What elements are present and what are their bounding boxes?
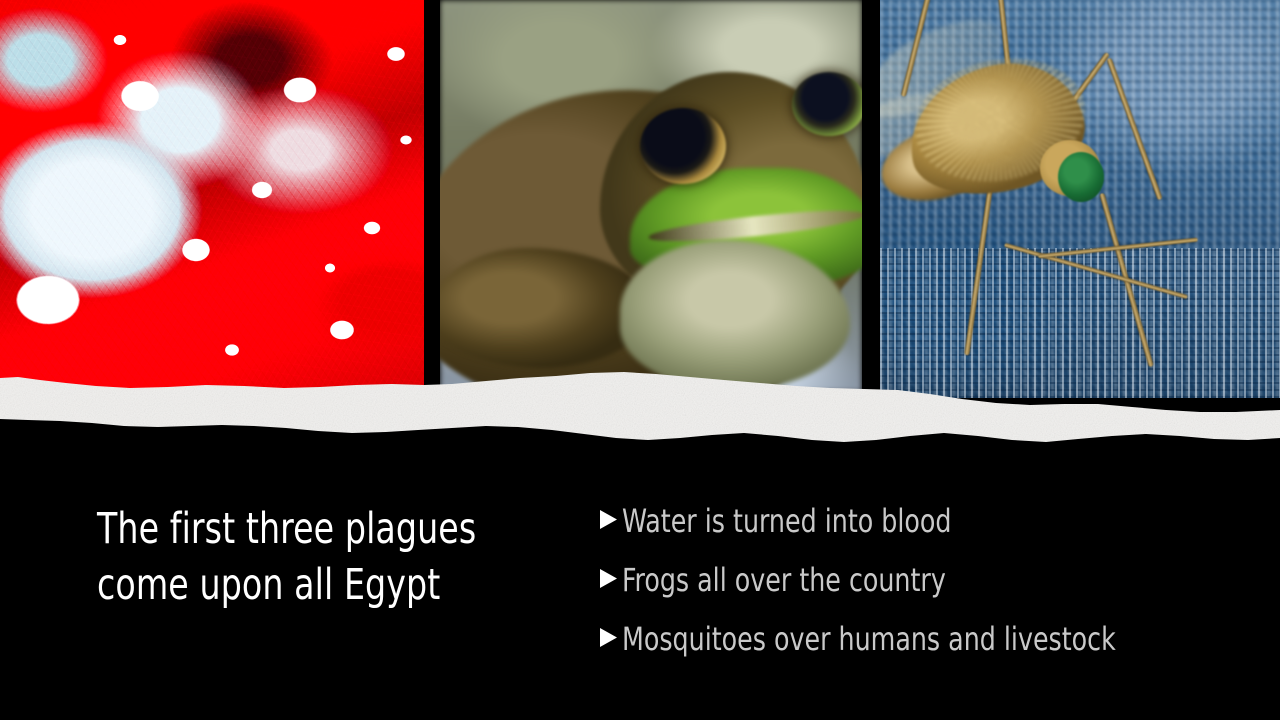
list-item: Mosquitoes over humans and livestock [600, 620, 1260, 679]
page-title: The first three plagues come upon all Eg… [97, 501, 493, 613]
list-item-label: Water is turned into blood [622, 502, 951, 540]
presentation-slide: The first three plagues come upon all Eg… [0, 0, 1280, 720]
blood-water-image [0, 0, 424, 390]
image-band [0, 0, 1280, 410]
list-item: Frogs all over the country [600, 561, 1260, 620]
list-item-label: Frogs all over the country [622, 561, 946, 599]
torn-paper-shape [0, 372, 1280, 442]
torn-paper-divider [0, 360, 1280, 460]
frog-image [440, 0, 862, 392]
triangle-right-icon [600, 569, 617, 588]
mosquito-eye [1058, 152, 1104, 202]
frog-eye-left [640, 108, 726, 184]
plagues-list: Water is turned into blood Frogs all ove… [600, 502, 1260, 679]
triangle-right-icon [600, 628, 617, 647]
list-item: Water is turned into blood [600, 502, 1260, 561]
blood-water-artwork [0, 0, 424, 390]
frog-eye-right [792, 72, 862, 136]
list-item-label: Mosquitoes over humans and livestock [622, 620, 1116, 658]
triangle-right-icon [600, 510, 617, 529]
mosquito-image [880, 0, 1280, 398]
